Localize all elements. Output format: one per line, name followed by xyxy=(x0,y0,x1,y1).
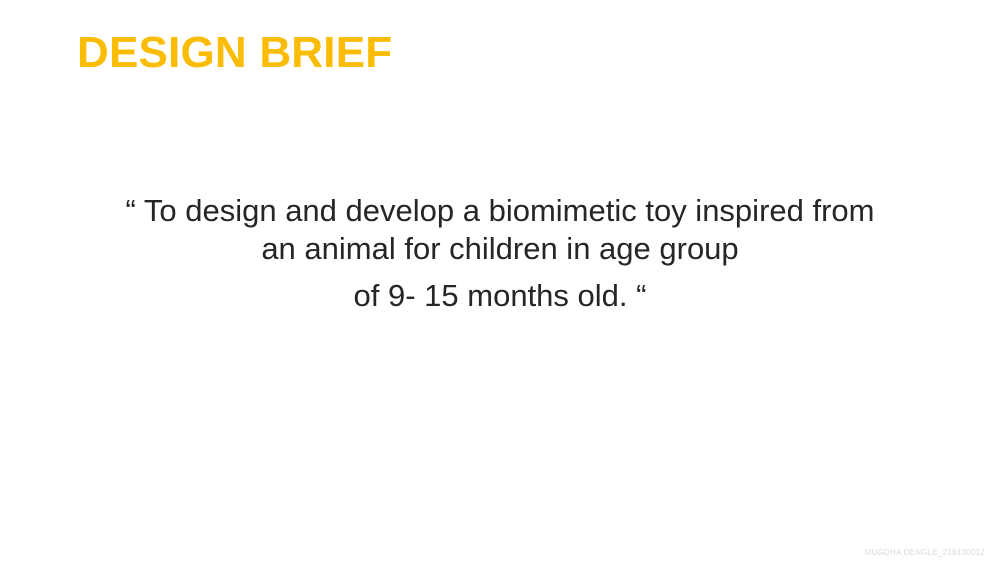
quote-paragraph-2: of 9- 15 months old. “ xyxy=(60,277,940,315)
slide-canvas: DESIGN BRIEF “ To design and develop a b… xyxy=(0,0,1000,563)
quote-line-3: of 9- 15 months old. “ xyxy=(60,277,940,315)
quote-paragraph-1: “ To design and develop a biomimetic toy… xyxy=(60,192,940,268)
page-title: DESIGN BRIEF xyxy=(77,31,392,75)
quote-line-2: an animal for children in age group xyxy=(60,230,940,268)
design-brief-quote: “ To design and develop a biomimetic toy… xyxy=(60,192,940,315)
quote-line-1: “ To design and develop a biomimetic toy… xyxy=(60,192,940,230)
footer-credit: MUGDHA DENGLE_216130012 xyxy=(865,548,985,557)
